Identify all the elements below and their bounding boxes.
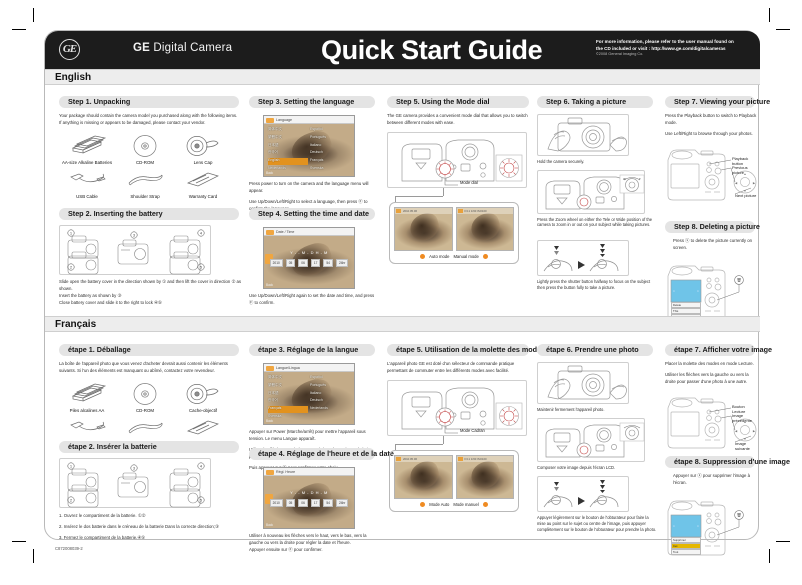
step-4-body: Use Up/Down/Left/Right again to set the … (249, 293, 379, 307)
shutter-halfpress-icon (538, 477, 630, 513)
language-option[interactable]: Italiano (310, 391, 350, 398)
camera-back-figure-playback: ▲▼ ◀▶ Playback button Previous picture N… (665, 142, 757, 204)
crop-mark (33, 549, 34, 563)
accessory-label: Cache-objectif (175, 408, 231, 413)
datetime-format-row: Y - - M - D H - M (264, 250, 354, 255)
step-8-body: Press ⓧ to delete the picture currently … (673, 238, 757, 252)
step-3-language: Step 3. Setting the language Language 简体… (249, 91, 379, 213)
step-3-body-1: Press power to turn on the camera and th… (249, 181, 379, 195)
hour-field[interactable]: 17 (311, 259, 321, 267)
language-band-english: English (45, 69, 760, 85)
day-field[interactable]: 06 (298, 499, 308, 507)
year-field[interactable]: 2010 (270, 499, 283, 507)
quick-start-guide-page: GE GE Digital Camera Quick Start Guide F… (0, 0, 802, 585)
step-1-title: Step 1. Unpacking (59, 96, 239, 108)
datetime-fields[interactable]: 2010 05 06 17 54 24hr (264, 259, 354, 267)
lcd-back-label: Back (266, 523, 273, 527)
auto-mode-sample: 2010.05.06 (394, 455, 453, 499)
language-option[interactable]: Nederlands (268, 166, 308, 173)
manual-mode-osd: F3.1 1/60 ISO100 (457, 456, 514, 462)
svg-text:1: 1 (70, 464, 72, 468)
compose-lcd-figure (537, 418, 645, 462)
header-note-line1: For more information, please refer to th… (596, 38, 752, 45)
clock-format-field[interactable]: 24hr (336, 499, 348, 507)
etape-6-caption-1: Maintenir fermement l'appareil photo. (537, 407, 657, 413)
step-5-mode-dial: Step 5. Using the Mode dial The GE camer… (387, 91, 533, 264)
accessory-label: Shoulder Strap (117, 194, 173, 199)
svg-text:1: 1 (70, 231, 72, 235)
accessory-item: Shoulder Strap (117, 167, 173, 199)
etape-5-body: L'appareil photo GE est doté d'un sélect… (387, 361, 533, 375)
step-7-body-1: Press the Playback button to switch to P… (665, 113, 757, 127)
batteries-icon (59, 381, 115, 407)
lcd-back-label: Back (266, 171, 273, 175)
mode-dial-callout: Mode dial (460, 180, 478, 185)
etape-8-body: Appuyer sur ⓧ pour supprimer l'image à l… (673, 473, 757, 487)
brand-name: GE (133, 42, 150, 54)
manual-mode-icon (483, 254, 488, 259)
step-1-unpacking: Step 1. Unpacking Your package should co… (59, 91, 243, 199)
accessory-label: USB Cable (59, 194, 115, 199)
accessory-label: CD-ROM (117, 160, 173, 165)
sample-photo (457, 456, 514, 498)
camera-back-figure-delete: □□ 🗑 Delete This All Cancel (665, 258, 757, 324)
svg-text:W: W (623, 177, 626, 181)
cd-rom-icon (117, 133, 173, 159)
header-note-line2: the CD included or visit : http://www.ge… (596, 45, 752, 52)
warranty-card-icon (175, 167, 231, 193)
page-title: Quick Start Guide (321, 35, 542, 66)
accessory-item: Piles alcalines AA (59, 381, 115, 413)
accessory-item: AA-size Alkaline Batteries (59, 133, 115, 165)
battery-diagram: 123 45 (60, 459, 212, 509)
step-6-taking-picture: Step 6. Taking a picture Hold the camera… (537, 91, 657, 291)
datetime-screen: Régl. Heure Y - - M - D H - M 2010 05 06… (263, 467, 379, 529)
etape-7-body-1: Placer la molette des modes en mode Lect… (665, 361, 757, 368)
etape-8-title: étape 8. Suppression d'une image (665, 456, 755, 468)
year-field[interactable]: 2010 (270, 259, 283, 267)
callout-next-picture: Next picture (735, 193, 756, 198)
language-option[interactable]: 日本語 (268, 391, 308, 398)
camera-top-compose-diagram (538, 419, 646, 463)
language-option[interactable]: 한국어 (268, 150, 308, 157)
language-band-francais: Français (45, 316, 760, 332)
hands-holding-camera-icon (538, 115, 630, 157)
minute-field[interactable]: 54 (323, 499, 333, 507)
lcd-screen: Date / Time Y - - M - D H - M 2010 05 06… (263, 227, 355, 289)
minute-field[interactable]: 54 (323, 259, 333, 267)
language-option[interactable]: Español (310, 375, 350, 382)
language-list[interactable]: 简体中文 Español 繁體中文 Português 日本語 Italiano… (264, 372, 354, 424)
lcd-screen: Régl. Heure Y - - M - D H - M 2010 05 06… (263, 467, 355, 529)
etape-7-afficher-image: étape 7. Afficher votre image Placer la … (665, 339, 757, 452)
lens-cap-icon (175, 381, 231, 407)
usb-cable-icon (59, 167, 115, 193)
crop-mark (769, 8, 770, 22)
svg-text:2: 2 (70, 498, 72, 502)
battery-diagram: 123 45 (60, 226, 212, 276)
step-4-title: Step 4. Setting the time and date (249, 208, 375, 220)
brand-subtitle: Digital Camera (153, 42, 232, 54)
mode-samples-box: 2010.05.06 F3.1 1/60 ISO100 Mode Auto Mo… (389, 450, 519, 512)
etape-6-caption-3: Appuyer légèrement sur le bouton de l'ob… (537, 515, 657, 532)
auto-mode-label: Mode Auto (429, 502, 449, 507)
mode-dial-zoom (500, 406, 519, 425)
language-option[interactable]: 简体中文 (268, 375, 308, 382)
sample-photo (457, 208, 514, 250)
shoulder-strap-icon (117, 167, 173, 193)
etape-1-body: La boîte de l'appareil photo que vous ve… (59, 361, 243, 375)
etape-7-title: étape 7. Afficher votre image (665, 344, 755, 356)
accessory-grid-english: AA-size Alkaline Batteries CD-ROM (59, 133, 231, 199)
auto-mode-osd: 2010.05.06 (395, 456, 452, 462)
mode-dial-callout: Mode Cadran (460, 428, 485, 433)
camera-top-figure: Mode Cadran (387, 380, 527, 436)
language-option[interactable]: Deutsch (310, 150, 350, 157)
svg-text:5: 5 (200, 498, 202, 502)
zoom-wheel-inset: W T (620, 175, 644, 193)
language-option[interactable]: Português (310, 135, 350, 142)
zoom-wheel-figure: W T (537, 170, 645, 214)
band-label-francais: Français (55, 319, 96, 330)
battery-insertion-figure: 123 45 (59, 225, 211, 275)
auto-mode-sample: 2010.05.06 (394, 207, 453, 251)
accessory-item: CD-ROM (117, 381, 173, 413)
language-list[interactable]: 简体中文 Español 繁體中文 Português 日本語 Italiano… (264, 124, 354, 176)
etape-1-title: étape 1. Déballage (59, 344, 239, 356)
svg-text:4: 4 (200, 464, 202, 468)
language-option[interactable]: 繁體中文 (268, 383, 308, 390)
accessory-item: CD-ROM (117, 133, 173, 165)
mode-captions: Auto mode Manual mode (394, 254, 514, 259)
sample-photo (395, 208, 452, 250)
step-8-deleting: Step 8. Deleting a picture Press ⓧ to de… (665, 216, 757, 324)
lcd-screen: Langue/Lingua 简体中文 Español 繁體中文 Portuguê… (263, 363, 355, 425)
datetime-format-row: Y - - M - D H - M (264, 490, 354, 495)
accessory-item: Lens Cap (175, 133, 231, 165)
callout-previous-picture: Image précédente (732, 413, 757, 423)
etape-2-line-1: 1. Ouvrez le compartiment de la batterie… (59, 513, 243, 520)
cd-rom-icon (117, 381, 173, 407)
datetime-fields[interactable]: 2010 05 06 17 54 24hr (264, 499, 354, 507)
guide-sheet: GE GE Digital Camera Quick Start Guide F… (44, 30, 759, 540)
manual-mode-sample: F3.1 1/60 ISO100 (456, 207, 515, 251)
auto-mode-icon (420, 502, 425, 507)
band-label-english: English (55, 72, 91, 83)
language-option[interactable]: Svenska (268, 414, 308, 421)
mode-dial-zoom (500, 158, 519, 177)
svg-text:4: 4 (200, 231, 202, 235)
camera-top-diagram (388, 133, 528, 189)
language-option[interactable]: 简体中文 (268, 127, 308, 134)
datetime-screen: Date / Time Y - - M - D H - M 2010 05 06… (263, 227, 379, 289)
etape-1-deballage: étape 1. Déballage La boîte de l'apparei… (59, 339, 243, 447)
mode-connector (387, 188, 533, 202)
step-1-body: Your package should contain the camera m… (59, 113, 243, 127)
clock-format-field[interactable]: 24hr (336, 259, 348, 267)
callout-next-picture: Image suivante (735, 441, 757, 451)
shutter-halfpress-icon (538, 241, 630, 277)
lcd-title-bar: Régl. Heure (264, 468, 354, 476)
language-option[interactable]: 日本語 (268, 143, 308, 150)
language-option[interactable]: Svenska (310, 166, 350, 173)
language-option[interactable]: Français (310, 158, 350, 165)
accessory-label: Lens Cap (175, 160, 231, 165)
delete-menu[interactable]: Supprimer Cet Tout (671, 537, 701, 555)
lcd-screen: Language 简体中文 Español 繁體中文 Português 日本語… (263, 115, 355, 177)
sample-photo (395, 456, 452, 498)
svg-text:5: 5 (200, 265, 202, 269)
camera-back-figure-playback: ▲▼ ◀▶ Bouton Lecture Image précédente Im… (665, 390, 757, 452)
language-option[interactable]: Italiano (310, 143, 350, 150)
accessory-item: Warranty Card (175, 167, 231, 199)
step-7-title: Step 7. Viewing your picture (665, 96, 755, 108)
hold-camera-figure (537, 114, 629, 156)
ge-roundel-icon: GE (59, 39, 80, 60)
crop-mark (12, 541, 26, 542)
etape-2-batterie: étape 2. Insérer la batterie (59, 436, 243, 542)
crop-mark (33, 8, 34, 22)
svg-text:3: 3 (133, 466, 135, 470)
language-option[interactable]: Español (310, 127, 350, 134)
lens-cap-icon (175, 133, 231, 159)
etape-2-line-3: 3. Fermez le compartiment de la batterie… (59, 535, 243, 542)
hour-field[interactable]: 17 (311, 499, 321, 507)
etape-4-title: étape 4. Réglage de l'heure et de la dat… (249, 448, 375, 460)
language-option-selected[interactable]: Français (268, 406, 308, 413)
language-menu-screen: Langue/Lingua 简体中文 Español 繁體中文 Portuguê… (263, 363, 379, 425)
delete-menu-item[interactable]: Tout (671, 549, 701, 555)
step-8-title: Step 8. Deleting a picture (665, 221, 755, 233)
mode-sample-shots: 2010.05.06 F3.1 1/60 ISO100 (394, 207, 514, 251)
svg-text:3: 3 (133, 233, 135, 237)
month-field[interactable]: 05 (286, 259, 296, 267)
camera-back-figure-delete: □□ 🗑 Supprimer Cet Tout (665, 493, 757, 559)
etape-7-body-2: Utiliser les flèches vers la gauche ou v… (665, 372, 757, 386)
crop-mark (776, 29, 790, 30)
header-bar: GE GE Digital Camera Quick Start Guide F… (45, 31, 760, 69)
step-6-title: Step 6. Taking a picture (537, 96, 653, 108)
step-2-body: Slide open the battery cover in the dire… (59, 279, 243, 307)
svg-text:🗑: 🗑 (736, 513, 741, 518)
etape-4-body: Utiliser à nouveau les flèches vers le h… (249, 533, 379, 554)
step-6-caption-2: Press the Zoom wheel on either the Tele … (537, 217, 657, 228)
crop-mark (12, 29, 26, 30)
mode-dial-inset (436, 160, 454, 178)
step-7-body-2: Use Left/Right to browse through your ph… (665, 131, 757, 138)
language-option[interactable]: 繁體中文 (268, 135, 308, 142)
etape-5-molette: étape 5. Utilisation de la molette des m… (387, 339, 533, 512)
lcd-back-label: Back (266, 419, 273, 423)
accessory-label: AA-size Alkaline Batteries (59, 160, 115, 165)
accessory-item: USB Cable (59, 167, 115, 199)
header-note: For more information, please refer to th… (596, 38, 752, 58)
step-6-caption-3: Lightly press the shutter button halfway… (537, 279, 657, 290)
mode-samples-box: 2010.05.06 F3.1 1/60 ISO100 Auto mode Ma… (389, 202, 519, 264)
manual-mode-label: Mode manuel (453, 502, 478, 507)
language-option[interactable]: 한국어 (268, 398, 308, 405)
copyright: ©2008 General Imaging Co. (596, 52, 752, 58)
step-4-datetime: Step 4. Setting the time and date Date /… (249, 203, 379, 307)
auto-mode-label: Auto mode (429, 254, 449, 259)
language-option[interactable]: Deutsch (310, 398, 350, 405)
callout-previous-picture: Previous picture (732, 165, 757, 175)
lcd-back-label: Back (266, 283, 273, 287)
accessory-label: Warranty Card (175, 194, 231, 199)
etape-6-prendre-photo: étape 6. Prendre une photo Maintenir fer… (537, 339, 657, 533)
step-1-body-text: Your package should contain the camera m… (59, 113, 237, 125)
etape-2-line-2: 2. Insérez le dos batterie dans le créne… (59, 524, 243, 531)
accessory-label: Piles alcalines AA (59, 408, 115, 413)
hands-holding-camera-icon (538, 363, 630, 405)
step-2-title: Step 2. Inserting the battery (59, 208, 239, 220)
step-6-caption-1: Hold the camera securely. (537, 159, 657, 165)
manual-mode-icon (483, 502, 488, 507)
etape-3-body-1: Appuyer sur Power (Marche/arrêt) pour me… (249, 429, 379, 443)
lcd-title-bar: Date / Time (264, 228, 354, 236)
crop-mark (776, 541, 790, 542)
accessory-item: Cache-objectif (175, 381, 231, 413)
etape-6-title: étape 6. Prendre une photo (537, 344, 653, 356)
manual-mode-label: Manual mode (453, 254, 478, 259)
mode-captions: Mode Auto Mode manuel (394, 502, 514, 507)
lcd-title-bar: Language (264, 116, 354, 124)
step-5-title: Step 5. Using the Mode dial (387, 96, 529, 108)
accessory-label: CD-ROM (117, 408, 173, 413)
brand-title: GE Digital Camera (133, 42, 232, 54)
step-2-battery: Step 2. Inserting the battery (59, 203, 243, 307)
day-field[interactable]: 06 (298, 259, 308, 267)
auto-mode-osd: 2010.05.06 (395, 208, 452, 214)
step-7-viewing: Step 7. Viewing your picture Press the P… (665, 91, 757, 204)
etape-3-title: étape 3. Réglage de la langue (249, 344, 375, 356)
etape-4-heure-date: étape 4. Réglage de l'heure et de la dat… (249, 443, 379, 554)
mode-sample-shots: 2010.05.06 F3.1 1/60 ISO100 (394, 455, 514, 499)
svg-text:T: T (639, 177, 641, 181)
language-menu-screen: Language 简体中文 Español 繁體中文 Português 日本語… (263, 115, 379, 177)
step-5-body: The GE camera provides a convenient mode… (387, 113, 533, 127)
camera-top-figure: Mode dial (387, 132, 527, 188)
svg-text:🗑: 🗑 (736, 278, 741, 283)
shutter-press-figure (537, 240, 629, 276)
etape-5-title: étape 5. Utilisation de la molette des m… (387, 344, 529, 356)
language-option-selected[interactable]: English (268, 158, 308, 165)
etape-6-caption-2: Composer votre image depuis l'écran LCD. (537, 465, 657, 471)
language-option[interactable]: Português (310, 383, 350, 390)
mode-connector (387, 436, 533, 450)
etape-8-suppression: étape 8. Suppression d'une image Appuyer… (665, 451, 757, 559)
hold-camera-figure (537, 362, 629, 404)
month-field[interactable]: 05 (286, 499, 296, 507)
crop-mark (769, 549, 770, 563)
manual-mode-osd: F3.1 1/60 ISO100 (457, 208, 514, 214)
manual-mode-sample: F3.1 1/60 ISO100 (456, 455, 515, 499)
step-3-title: Step 3. Setting the language (249, 96, 375, 108)
camera-top-diagram (388, 381, 528, 437)
batteries-icon (59, 133, 115, 159)
shutter-press-figure (537, 476, 629, 512)
mode-dial-inset (436, 408, 454, 426)
svg-text:2: 2 (70, 265, 72, 269)
language-option[interactable]: Nederlands (310, 406, 350, 413)
zoom-wheel-inset (620, 423, 644, 441)
lcd-title-bar: Langue/Lingua (264, 364, 354, 372)
document-code: C872008039-2 (55, 546, 83, 551)
battery-insertion-figure: 123 45 (59, 458, 211, 508)
camera-top-zoom-diagram: W T (538, 171, 646, 215)
auto-mode-icon (420, 254, 425, 259)
etape-2-title: étape 2. Insérer la batterie (59, 441, 239, 453)
